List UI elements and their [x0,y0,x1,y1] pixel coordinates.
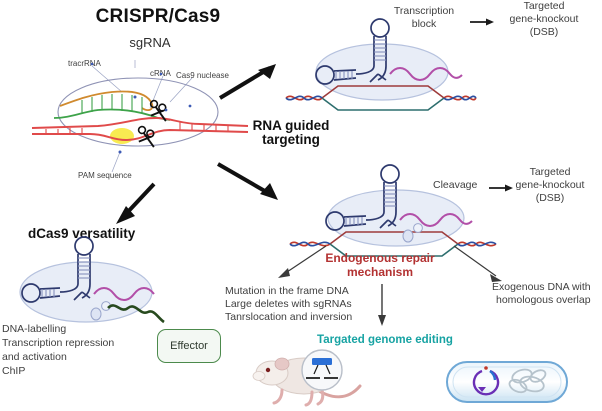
label-transcription-block-line1: Transcription [380,6,468,18]
dcas9-use-1: Transcription repression [2,338,114,350]
figure-title: CRISPR/Cas9 [68,6,248,27]
arrow-to-dcas9-versatility [108,182,168,230]
mouse-illustration [252,348,370,410]
label-exogenous-dna-line2: homologous overlap [496,295,591,307]
dcas9-use-0: DNA-labelling [2,324,66,336]
label-exogenous-dna-line1: Exogenous DNA with [492,282,591,294]
branch-arrow-down-editing [375,284,389,330]
branch-arrow-left-mutations [272,244,328,284]
pam-highlight [110,128,134,144]
label-sgrna: sgRNA [100,36,200,51]
scissors-icon-bottom [135,126,159,147]
arrow-to-cleavage-complex [216,160,296,208]
effector-label: Effector [170,340,208,352]
label-transcription-block-line2: block [380,19,468,31]
label-targeted-knockout-top-line2: gene-knockout [488,14,600,26]
label-cleavage: Cleavage [433,180,477,192]
dna-helix-right [444,96,476,99]
bacterium-illustration [446,358,568,406]
label-targeted-knockout-mid-line2: gene-knockout [496,180,602,192]
effector-node: Effector [157,329,221,363]
outcome-item-2: Tanrslocation and inversion [225,312,352,324]
label-targeted-knockout-top-line1: Targeted [492,1,596,13]
dna-helix-left [286,96,322,99]
dcas9-use-2: and activation [2,352,67,364]
label-targeted-knockout-mid-line3: (DSB) [500,193,600,205]
label-pam-sequence: PAM sequence [78,172,132,181]
dcas9-use-3: ChIP [2,366,25,378]
dna-strand-bottom [32,130,248,140]
label-targeted-knockout-mid-line1: Targeted [500,167,600,179]
outcome-item-0: Mutation in the frame DNA [225,286,349,298]
label-targeted-genome-editing: Targated genome editing [292,334,478,347]
label-rna-guided-targeting-line2: targeting [236,132,346,147]
label-targeted-knockout-top-line3: (DSB) [492,27,596,39]
crispr-complex-diagram [30,60,250,170]
cas9-complex-top-right [286,18,476,126]
outcome-item-1: Large deletes with sgRNAs [225,299,352,311]
magnifier-icon [302,350,342,390]
tracrrna-strand [60,92,152,111]
arrow-to-rna-guided-targeting [218,62,290,104]
